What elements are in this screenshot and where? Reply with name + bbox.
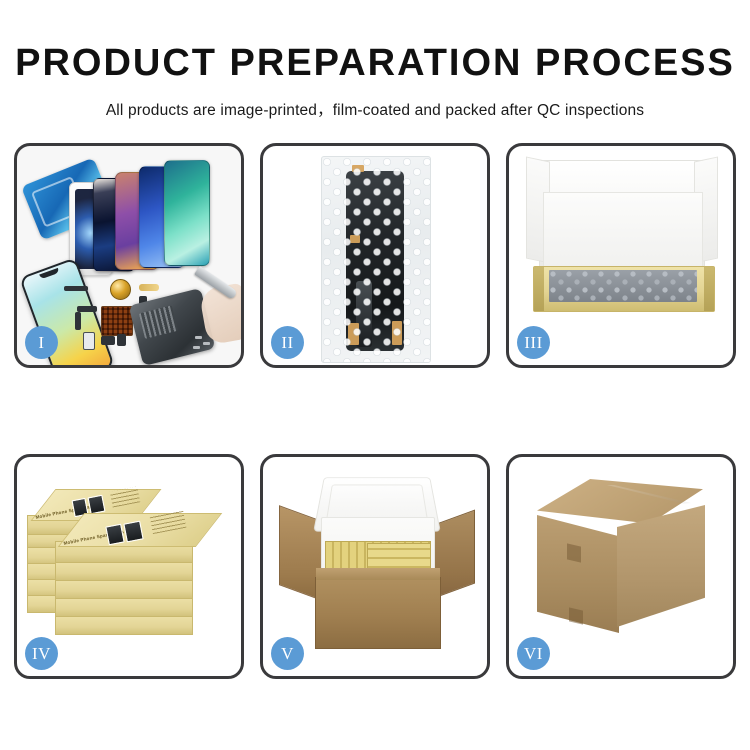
page-title: PRODUCT PREPARATION PROCESS bbox=[0, 44, 750, 82]
step-badge-6: VI bbox=[517, 637, 550, 670]
flex-cable-icon bbox=[77, 306, 97, 312]
step-badge-5: V bbox=[271, 637, 304, 670]
carton-body-icon bbox=[315, 577, 441, 649]
phone-lineup-group bbox=[69, 158, 229, 278]
chip-grid-icon bbox=[101, 306, 133, 336]
step-badge-3: III bbox=[517, 326, 550, 359]
header: PRODUCT PREPARATION PROCESS All products… bbox=[0, 0, 750, 120]
bubble-wrap-bag-icon bbox=[321, 156, 431, 363]
process-steps-grid: I II III bbox=[14, 143, 736, 685]
foam-sheet-icon bbox=[543, 192, 703, 274]
stacked-box bbox=[55, 615, 193, 635]
connector-icon bbox=[101, 336, 115, 345]
page-subtitle: All products are image-printed，film-coat… bbox=[0, 98, 750, 120]
step-badge-2: II bbox=[271, 326, 304, 359]
step-badge-4: IV bbox=[25, 637, 58, 670]
carton-side-face bbox=[617, 505, 705, 627]
flex-cable-icon bbox=[139, 284, 159, 291]
speaker-module-icon bbox=[110, 279, 131, 300]
screw-icon bbox=[193, 346, 200, 349]
box-product-image bbox=[123, 521, 143, 543]
step-panel-2: II bbox=[260, 143, 490, 368]
screw-icon bbox=[195, 336, 202, 339]
box-stack-group: Mobile Phone Spare Parts Mobile Phone Sp… bbox=[25, 475, 231, 657]
carton-tape-patch bbox=[567, 543, 581, 562]
step-badge-1: I bbox=[25, 326, 58, 359]
wrapped-units-icon bbox=[549, 270, 697, 302]
flex-cable-icon bbox=[75, 312, 81, 330]
screw-icon bbox=[203, 342, 210, 345]
box-product-image bbox=[105, 524, 124, 546]
bubble-texture bbox=[322, 157, 430, 362]
stacked-box bbox=[55, 597, 193, 617]
step-panel-6: VI bbox=[506, 454, 736, 679]
camera-module-icon bbox=[83, 332, 95, 350]
step-panel-1: I bbox=[14, 143, 244, 368]
step-panel-5: V bbox=[260, 454, 490, 679]
product-preparation-infographic: PRODUCT PREPARATION PROCESS All products… bbox=[0, 0, 750, 750]
step-panel-3: III bbox=[506, 143, 736, 368]
connector-icon bbox=[117, 334, 126, 346]
box-product-image bbox=[88, 495, 106, 515]
flex-cable-icon bbox=[64, 286, 88, 291]
stacked-box bbox=[55, 579, 193, 599]
carton-tape-patch bbox=[569, 607, 583, 624]
phone-device-icon bbox=[164, 160, 210, 266]
stacked-box bbox=[55, 561, 193, 581]
step-panel-4: Mobile Phone Spare Parts Mobile Phone Sp… bbox=[14, 454, 244, 679]
